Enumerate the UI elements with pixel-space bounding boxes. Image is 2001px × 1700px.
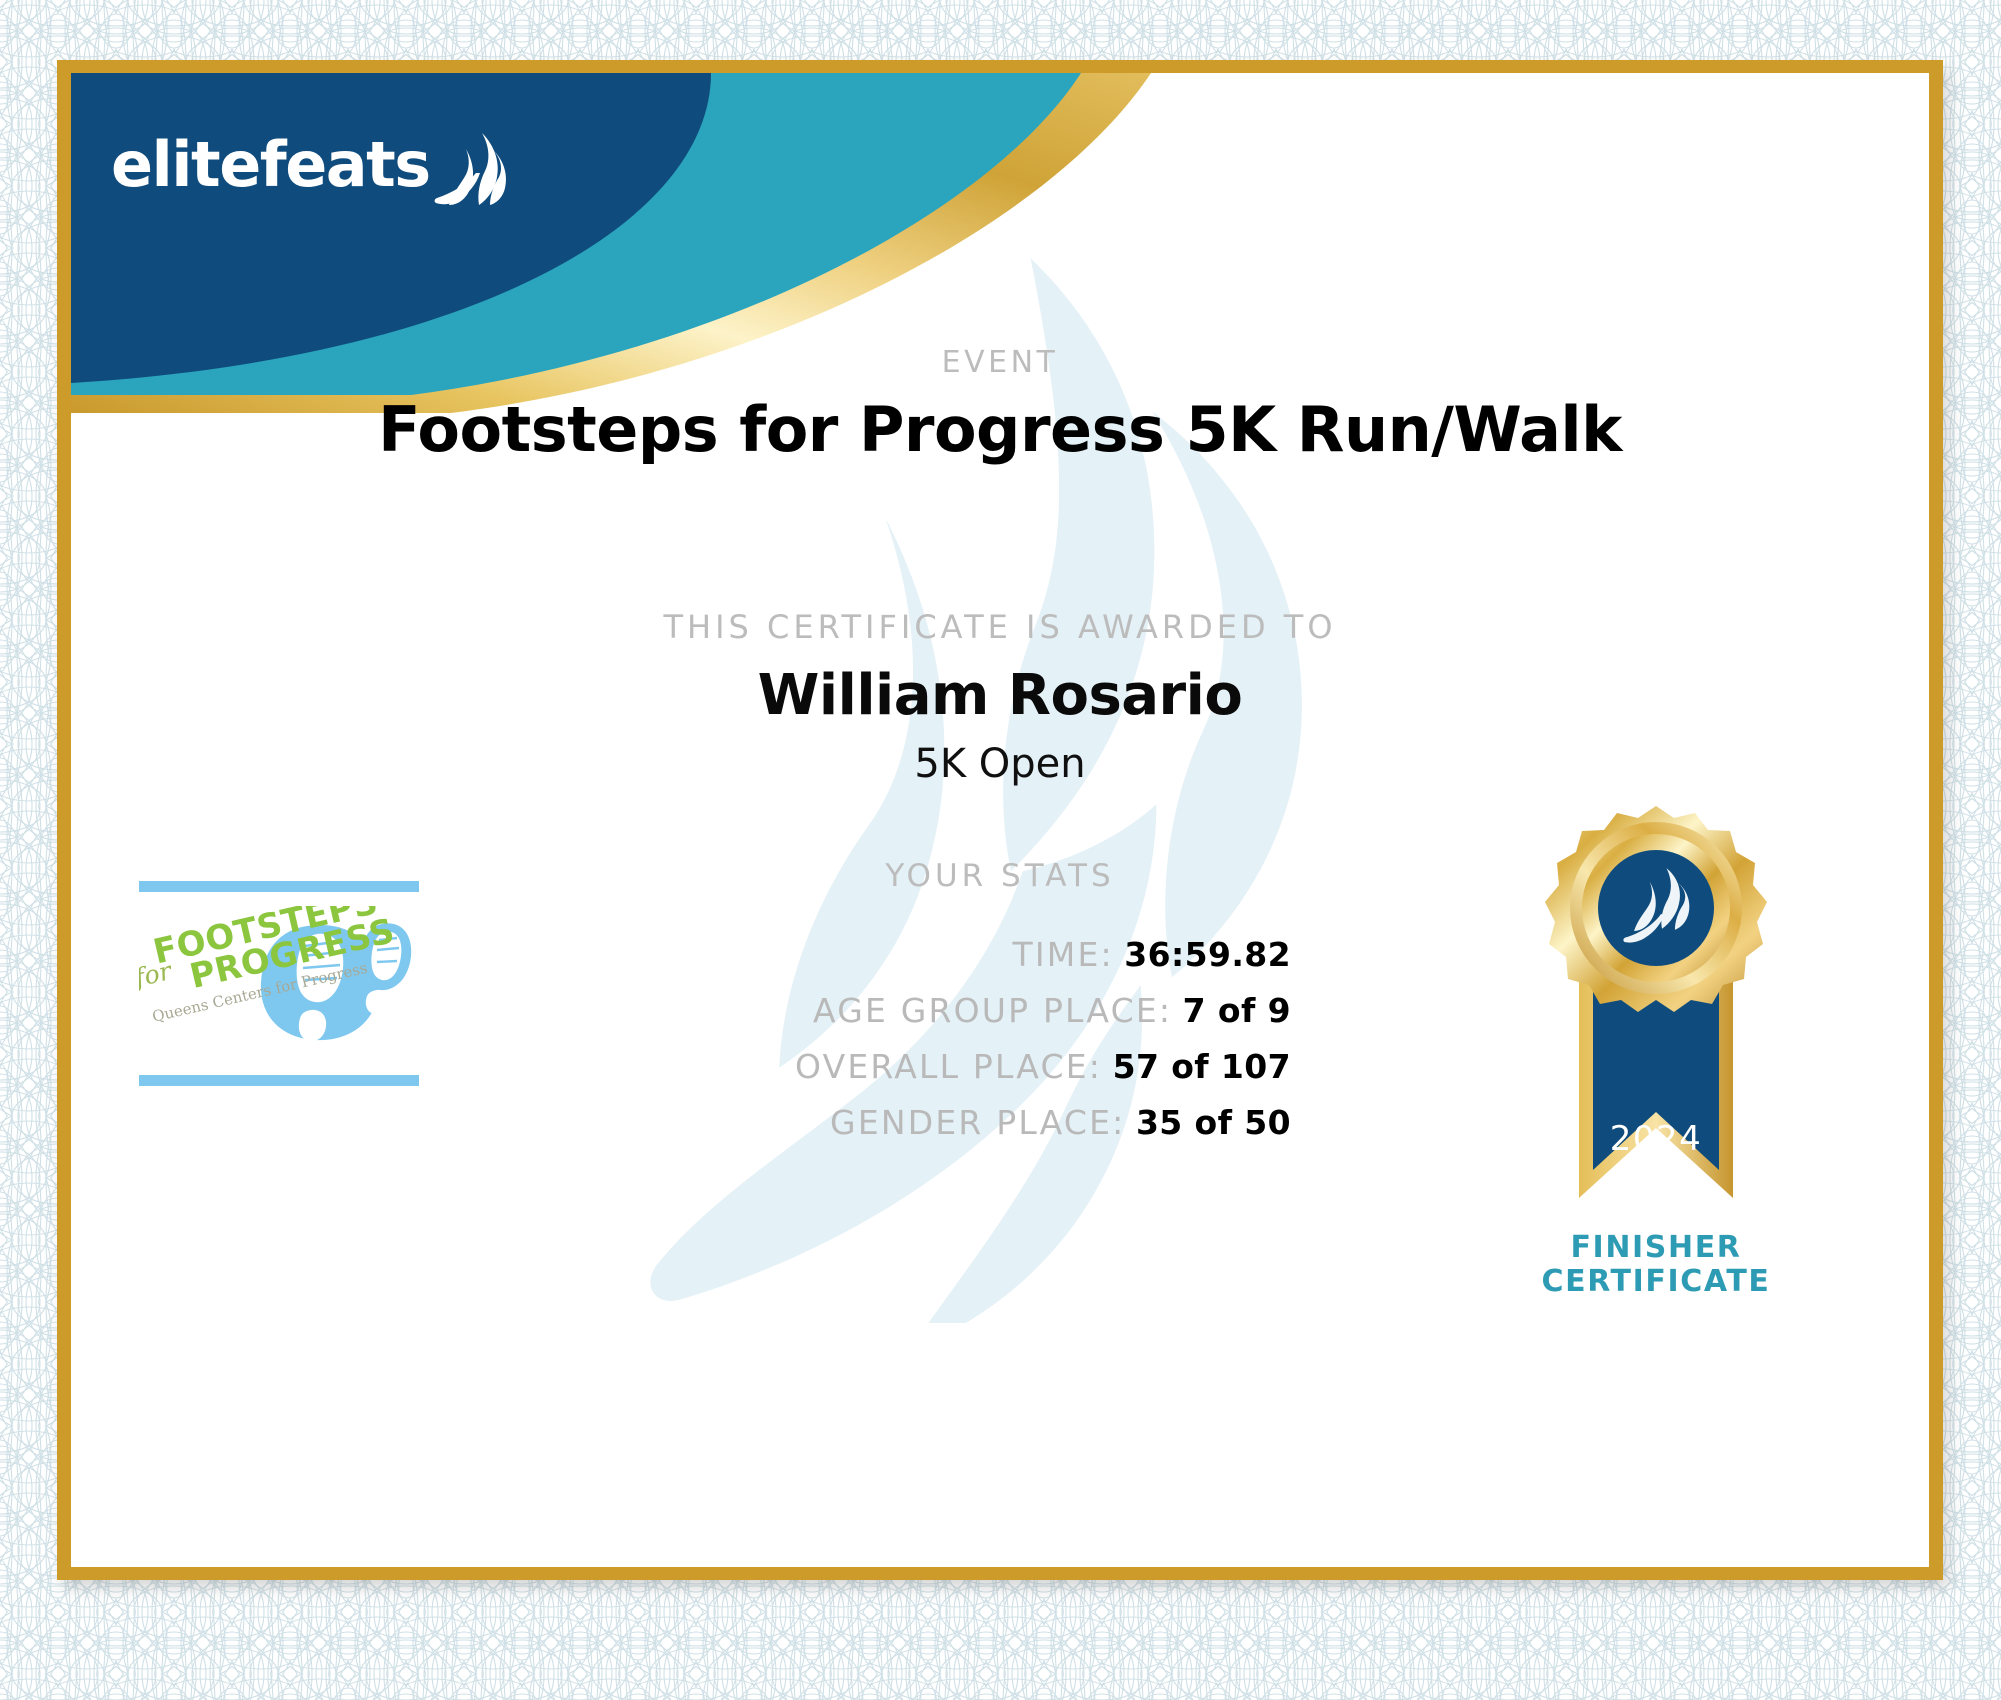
- stat-value: 35 of 50: [1136, 1103, 1291, 1142]
- elitefeats-logo: elitefeats: [111, 125, 510, 205]
- certificate-page: elitefeats EVENT Footsteps for Progress …: [0, 0, 2001, 1700]
- finisher-caption-line2: CERTIFICATE: [1466, 1265, 1846, 1299]
- medal-rosette: [1545, 806, 1767, 1012]
- stat-value: 7 of 9: [1183, 991, 1291, 1030]
- sponsor-logo-block: FOOTSTEPS for PROGRESS Queens Centers fo…: [139, 881, 419, 1086]
- medal-ribbon: [1579, 978, 1733, 1198]
- event-title: Footsteps for Progress 5K Run/Walk: [71, 393, 1929, 466]
- sponsor-rule-top: [139, 881, 419, 892]
- elitefeats-wordmark: elitefeats: [111, 134, 430, 196]
- finisher-medal-block: 2024 FINISHER CERTIFICATE: [1466, 798, 1846, 1298]
- gold-rosette-medal: 2024: [1511, 798, 1801, 1218]
- stat-key: OVERALL PLACE:: [795, 1047, 1102, 1086]
- finisher-caption: FINISHER CERTIFICATE: [1466, 1231, 1846, 1298]
- winged-foot-icon: [432, 131, 510, 205]
- sponsor-rule-bottom: [139, 1075, 419, 1086]
- certificate-content: EVENT Footsteps for Progress 5K Run/Walk…: [71, 73, 1929, 1567]
- stat-value: 36:59.82: [1124, 935, 1291, 974]
- stat-value: 57 of 107: [1113, 1047, 1291, 1086]
- gold-frame-border: elitefeats EVENT Footsteps for Progress …: [57, 60, 1943, 1580]
- medal-year: 2024: [1610, 1119, 1703, 1159]
- stat-row-gender-place: GENDER PLACE: 35 of 50: [71, 1103, 1291, 1142]
- finisher-caption-line1: FINISHER: [1466, 1231, 1846, 1265]
- event-label: EVENT: [71, 345, 1929, 380]
- recipient-name: William Rosario: [71, 663, 1929, 728]
- stat-key: AGE GROUP PLACE:: [813, 991, 1172, 1030]
- awarded-to-label: THIS CERTIFICATE IS AWARDED TO: [71, 608, 1929, 646]
- footsteps-for-progress-logo: FOOTSTEPS for PROGRESS Queens Centers fo…: [139, 906, 419, 1056]
- stat-key: GENDER PLACE:: [830, 1103, 1125, 1142]
- stat-key: TIME:: [1013, 935, 1114, 974]
- certificate-inner-surface: elitefeats EVENT Footsteps for Progress …: [71, 73, 1929, 1567]
- recipient-division: 5K Open: [71, 741, 1929, 787]
